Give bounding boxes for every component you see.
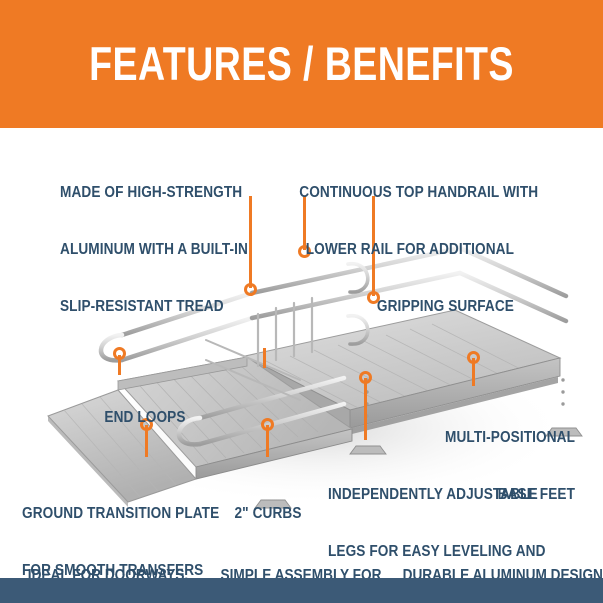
page-title: FEATURES / BENEFITS (60, 38, 542, 90)
header-banner: FEATURES / BENEFITS (0, 0, 603, 128)
callout-line: GRIPPING SURFACE (299, 297, 514, 316)
callout-line: SLIP-RESISTANT TREAD (60, 297, 262, 316)
callout-line: MULTI-POSITIONAL (408, 428, 575, 447)
callout-line: CONTINUOUS TOP HANDRAIL WITH (299, 183, 514, 202)
callout-line: INDEPENDENTLY ADJUSTABLE (328, 485, 548, 504)
callout-line: LOWER RAIL FOR ADDITIONAL (299, 240, 514, 259)
callout-continuous-top-handrail: CONTINUOUS TOP HANDRAIL WITH LOWER RAIL … (299, 145, 514, 354)
callout-line: ALUMINUM WITH A BUILT-IN (60, 240, 262, 259)
marker-adjustable-legs (359, 371, 372, 384)
infographic-page: FEATURES / BENEFITS (0, 0, 603, 603)
callout-line: 2" CURBS (233, 504, 303, 523)
leader-line-end-loops (263, 348, 266, 368)
callout-high-strength-aluminum: MADE OF HIGH-STRENGTH ALUMINUM WITH A BU… (60, 145, 262, 354)
callout-line: MADE OF HIGH-STRENGTH (60, 183, 262, 202)
callout-end-loops: END LOOPS (92, 370, 198, 465)
leader-line-adjustable-legs (364, 378, 367, 440)
footer-bar (0, 578, 603, 603)
callout-line: END LOOPS (92, 408, 198, 427)
callout-line: GROUND TRANSITION PLATE (22, 504, 207, 523)
marker-curbs (261, 418, 274, 431)
